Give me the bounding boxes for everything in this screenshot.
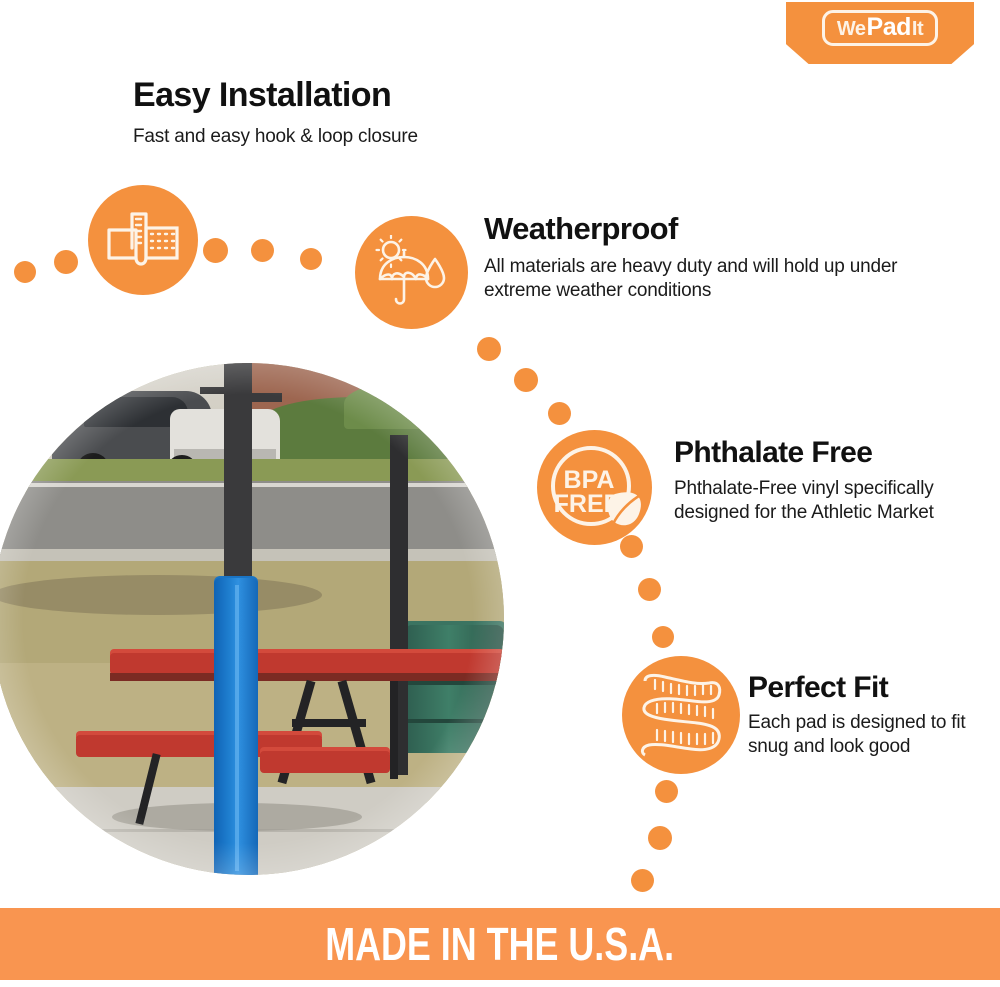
feature-title: Weatherproof — [484, 213, 914, 246]
path-dot — [638, 578, 661, 601]
feature-title: Phthalate Free — [674, 437, 974, 469]
path-dot — [655, 780, 678, 803]
path-dot — [477, 337, 501, 361]
path-dot — [631, 869, 654, 892]
path-dot — [251, 239, 274, 262]
feature-easy-installation: Easy Installation Fast and easy hook & l… — [133, 78, 563, 149]
feature-perfect-fit: Perfect Fit Each pad is designed to fit … — [748, 672, 993, 759]
made-in-usa-text: MADE IN THE U.S.A. — [326, 917, 675, 971]
path-dot — [548, 402, 571, 425]
brand-logo-we: We — [837, 19, 866, 39]
path-dot — [14, 261, 36, 283]
hook-and-loop-icon — [88, 185, 198, 295]
photo-vignette — [0, 363, 504, 875]
brand-logo: WePadIt — [786, 2, 974, 64]
path-dot — [514, 368, 538, 392]
path-dot — [648, 826, 672, 850]
feature-weatherproof: Weatherproof All materials are heavy dut… — [484, 213, 914, 303]
brand-logo-pad: Pad — [867, 15, 911, 40]
feature-phthalate-free: Phthalate Free Phthalate-Free vinyl spec… — [674, 437, 974, 525]
path-dot — [300, 248, 322, 270]
made-in-usa-banner: MADE IN THE U.S.A. — [0, 908, 1000, 980]
measuring-tape-icon — [622, 656, 740, 774]
product-photo — [0, 363, 504, 875]
feature-body: All materials are heavy duty and will ho… — [484, 255, 914, 304]
infographic-canvas: WePadIt — [0, 0, 1000, 987]
path-dot — [203, 238, 228, 263]
feature-title: Perfect Fit — [748, 672, 993, 704]
brand-logo-frame: WePadIt — [822, 10, 938, 46]
umbrella-sun-rain-icon — [355, 216, 468, 329]
brand-logo-it: It — [912, 19, 923, 39]
feature-body: Fast and easy hook & loop closure — [133, 125, 563, 149]
path-dot — [652, 626, 674, 648]
feature-title: Easy Installation — [133, 78, 563, 114]
feature-body: Phthalate-Free vinyl specifically design… — [674, 477, 974, 526]
bpa-free-leaf-icon: BPA FREE — [537, 430, 652, 545]
feature-body: Each pad is designed to fit snug and loo… — [748, 711, 993, 760]
path-dot — [54, 250, 78, 274]
